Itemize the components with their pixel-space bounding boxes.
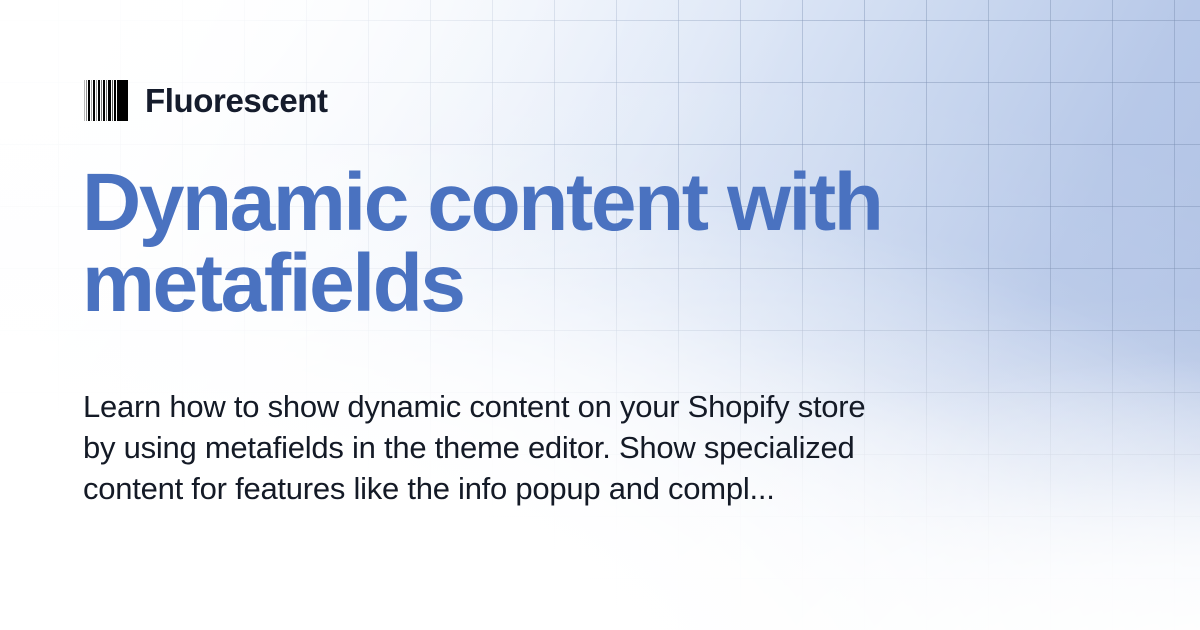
page-summary: Learn how to show dynamic content on you… bbox=[83, 387, 883, 510]
brand-name: Fluorescent bbox=[145, 84, 328, 117]
card-content: Fluorescent Dynamic content with metafie… bbox=[0, 0, 1200, 630]
og-share-card: Fluorescent Dynamic content with metafie… bbox=[0, 0, 1200, 630]
brand-lockup: Fluorescent bbox=[84, 77, 328, 123]
page-title: Dynamic content with metafields bbox=[82, 162, 1092, 324]
barcode-icon bbox=[84, 80, 128, 121]
